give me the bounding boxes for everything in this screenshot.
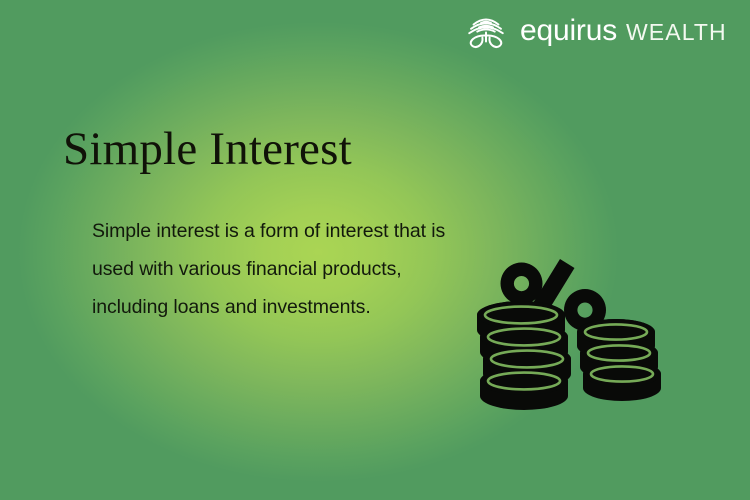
page-title: Simple Interest [63, 123, 352, 176]
banyan-tree-logo-mark [463, 11, 509, 51]
brand-name-secondary: WEALTH [626, 21, 727, 44]
brand-logo[interactable]: equirus WEALTH [463, 11, 727, 51]
brand-wordmark: equirus WEALTH [520, 16, 727, 46]
brand-name-primary: equirus [520, 16, 617, 46]
body-paragraph: Simple interest is a form of interest th… [92, 212, 464, 326]
slide-canvas: equirus WEALTH Simple Interest Simple in… [0, 0, 750, 500]
percent-and-coin-stacks-illustration [466, 256, 676, 421]
